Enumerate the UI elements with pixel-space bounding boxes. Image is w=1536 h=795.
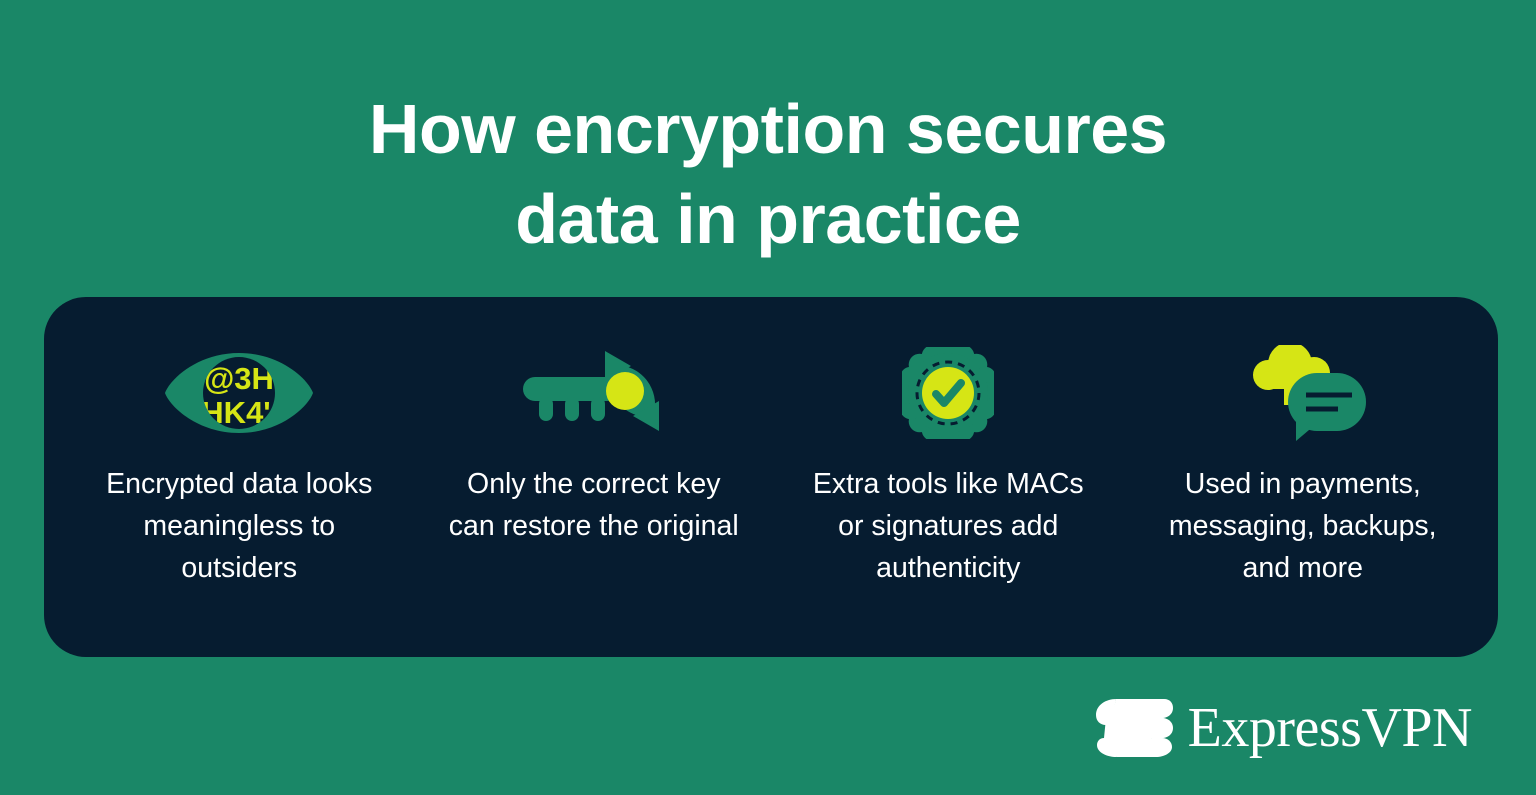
expressvpn-logo: ExpressVPN [1094,697,1472,759]
page-title-line-2: data in practice [0,174,1536,264]
expressvpn-wordmark: ExpressVPN [1188,700,1472,756]
expressvpn-e-mark-icon [1094,697,1174,759]
page-title-line-1: How encryption secures [0,84,1536,174]
column-caption: Extra tools like MACs or signatures add … [798,463,1098,589]
column-caption: Only the correct key can restore the ori… [444,463,744,547]
key-rotation-icon [521,347,667,439]
cloud-upload-message-icon [1238,345,1368,441]
icon-container [902,345,994,441]
column-correct-key: Only the correct key can restore the ori… [417,345,772,547]
column-used-in: Used in payments, messaging, backups, an… [1126,345,1481,589]
columns-container: @3H HK4' Encrypted data looks meaningles… [44,297,1498,657]
column-encrypted-data: @3H HK4' Encrypted data looks meaningles… [62,345,417,589]
column-caption: Used in payments, messaging, backups, an… [1153,463,1453,589]
icon-container [521,345,667,441]
column-caption: Encrypted data looks meaningless to outs… [89,463,389,589]
column-authenticity: Extra tools like MACs or signatures add … [771,345,1126,589]
icon-container: @3H HK4' [164,345,314,441]
eye-encrypted-data-icon: @3H HK4' [164,349,314,437]
infographic-poster: How encryption secures data in practice … [0,0,1536,795]
page-title: How encryption secures data in practice [0,84,1536,264]
content-card: @3H HK4' Encrypted data looks meaningles… [44,297,1498,657]
verified-badge-check-icon [902,347,994,439]
icon-container [1238,345,1368,441]
